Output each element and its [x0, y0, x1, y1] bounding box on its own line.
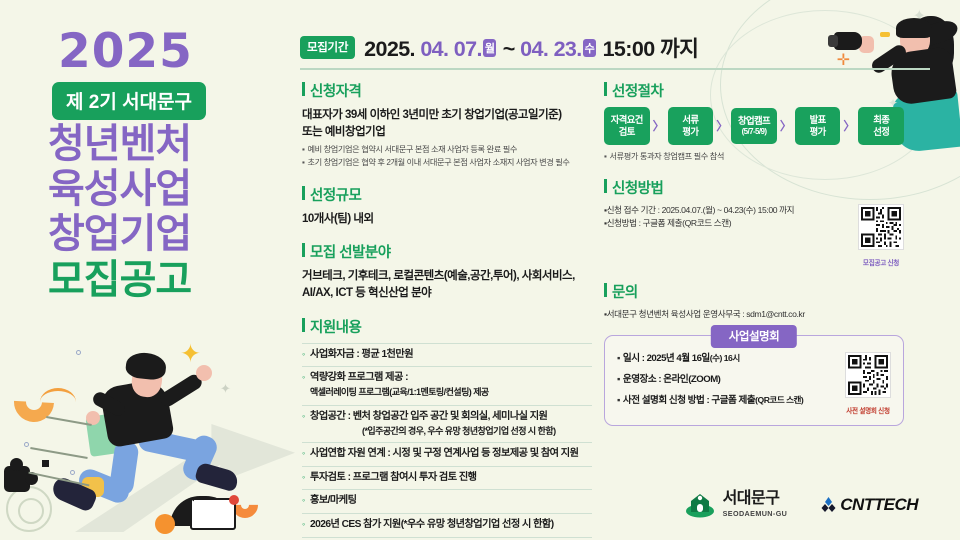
- qr-code-apply[interactable]: [858, 204, 904, 250]
- support-section: 지원내용 사업화자금 : 평균 1천만원역량강화 프로그램 제공 :액셀러레이팅…: [302, 316, 592, 538]
- process-title: 선정절차: [604, 80, 904, 101]
- session-line-text: 사전 설명회 신청 방법 : 구글폼 제출: [623, 395, 755, 406]
- apply-title: 신청방법: [604, 177, 904, 198]
- period-end-day: 수: [583, 39, 597, 57]
- process-step-detail: (5/7-5/9): [734, 127, 774, 137]
- qr-code-session[interactable]: [845, 352, 891, 398]
- session-line: ▪운영장소 : 온라인(ZOOM): [617, 373, 845, 387]
- support-item-text: 사업화자금 : 평균 1천만원: [310, 349, 413, 360]
- seodaemun-logo-text: 서대문구 SEODAEMUN-GU: [723, 491, 788, 518]
- inquiry-section: 문의 ▪서대문구 청년벤처 육성사업 운영사무국 : sdm1@cntt.co.…: [604, 281, 904, 322]
- seodaemun-name-en: SEODAEMUN-GU: [723, 509, 788, 518]
- left-content-column: 신청자격 대표자가 39세 이하인 3년미만 초기 창업기업(공고일기준) 또는…: [302, 80, 592, 540]
- photographer-accent: [880, 32, 890, 37]
- poster-badge: 제 2기 서대문구: [52, 82, 206, 120]
- apply-line-2: ▪신청방법 : 구글폼 제출(QR코드 스캔): [604, 217, 858, 231]
- support-item: 사업연합 자원 연계 : 시정 및 구정 연계사업 등 정보제공 및 참여 지원: [302, 443, 592, 467]
- process-section: 선정절차 자격요건검토〉서류평가〉창업캠프(5/7-5/9)〉발표평가〉최종선정…: [604, 80, 904, 163]
- support-item: 역량강화 프로그램 제공 :액셀러레이팅 프로그램(교육/1:1멘토링/컨설팅)…: [302, 367, 592, 406]
- runner-hair: [125, 351, 167, 381]
- eligibility-note-1: ▪예비 창업기업은 협약시 서대문구 본점 소재 사업자 등록 완료 필수: [302, 143, 592, 156]
- flow-arrow-icon: 〉: [780, 117, 792, 134]
- support-item-text: 역량강화 프로그램 제공 :: [310, 372, 408, 383]
- process-note: ▪서류평가 통과자 창업캠프 필수 참석: [604, 150, 904, 163]
- support-item: 사업화자금 : 평균 1천만원: [302, 344, 592, 368]
- process-step-line1: 창업캠프: [734, 115, 774, 127]
- period-start-day: 월: [483, 39, 497, 57]
- flow-arrow-icon: 〉: [843, 117, 855, 134]
- session-line-text: 운영장소 : 온라인(ZOOM): [623, 374, 720, 385]
- process-step-line2: 선정: [861, 126, 901, 138]
- seodaemun-mark-icon: [685, 492, 715, 518]
- period-start-date: 04. 07.: [420, 37, 482, 61]
- info-session-box: 사업설명회 ▪일시 : 2025년 4월 16일(수) 16시▪운영장소 : 온…: [604, 335, 904, 426]
- scale-section: 선정규모 10개사(팀) 내외: [302, 184, 592, 228]
- process-step: 서류평가: [668, 107, 714, 145]
- support-item: 2026년 CES 참가 지원(*우수 유망 청년창업기업 선정 시 한함): [302, 514, 592, 538]
- process-step: 창업캠프(5/7-5/9): [731, 108, 777, 144]
- session-qr-caption: 사전 설명회 신청: [845, 405, 891, 415]
- inquiry-line: ▪서대문구 청년벤처 육성사업 운영사무국 : sdm1@cntt.co.kr: [604, 308, 904, 322]
- process-flow: 자격요건검토〉서류평가〉창업캠프(5/7-5/9)〉발표평가〉최종선정: [604, 107, 904, 145]
- process-step-line1: 서류: [671, 114, 711, 126]
- process-step-line2: 평가: [798, 126, 838, 138]
- period-tilde: ~: [497, 37, 520, 61]
- info-session-tab: 사업설명회: [711, 325, 797, 348]
- header-divider: [300, 68, 930, 70]
- process-step: 자격요건검토: [604, 107, 650, 145]
- eligibility-note-2: ▪초기 창업기업은 협약 후 2개월 이내 서대문구 본점 사업자 소재지 사업…: [302, 156, 592, 169]
- support-item: 홍보/마케팅: [302, 490, 592, 514]
- period-text: 2025. 04. 07.월 ~ 04. 23.수 15:00 까지: [364, 32, 698, 63]
- envelope-icon: [190, 498, 236, 530]
- orange-dot-icon: [155, 514, 175, 534]
- poster-title-line-3: 창업기업: [48, 212, 191, 257]
- apply-lines: ▪신청 접수 기간 : 2025.04.07.(월) ~ 04.23(수) 15…: [604, 204, 858, 232]
- session-line-sub: (수) 16시: [710, 353, 740, 363]
- process-step-line1: 최종: [861, 114, 901, 126]
- process-step-line2: 검토: [607, 126, 647, 138]
- apply-section: 신청방법 ▪신청 접수 기간 : 2025.04.07.(월) ~ 04.23(…: [604, 177, 904, 267]
- scale-main: 10개사(팀) 내외: [302, 211, 592, 228]
- puzzle-piece-icon: [4, 466, 30, 492]
- flow-arrow-icon: 〉: [653, 117, 665, 134]
- star-yellow-icon: ✦: [180, 342, 201, 367]
- process-step: 최종선정: [858, 107, 904, 145]
- cnttech-name: CNTTECH: [840, 495, 918, 515]
- session-qr-block[interactable]: 사전 설명회 신청: [845, 352, 891, 415]
- bullet-icon: ▪: [617, 374, 620, 385]
- plus-orange-icon: ✛: [837, 50, 850, 70]
- process-step: 발표평가: [795, 107, 841, 145]
- tiny-dot-2: [24, 442, 29, 447]
- photographer-hair-top: [896, 18, 932, 38]
- tiny-dot-1: [76, 350, 81, 355]
- inquiry-title: 문의: [604, 281, 904, 302]
- bullet-icon: ▪: [617, 395, 620, 406]
- support-item-text: 홍보/마케팅: [310, 495, 356, 506]
- right-content-column: 선정절차 자격요건검토〉서류평가〉창업캠프(5/7-5/9)〉발표평가〉최종선정…: [604, 80, 904, 426]
- fields-section: 모집 선발분야 거브테크, 기후테크, 로컬콘텐츠(예술,공간,투어), 사회서…: [302, 241, 592, 301]
- support-title: 지원내용: [302, 316, 592, 337]
- poster-title-block: 청년벤처 육성사업 창업기업 모집공고: [48, 122, 191, 303]
- support-item-text: 투자검토 : 프로그램 참여시 투자 검토 진행: [310, 472, 477, 483]
- poster-hero: 2025 제 2기 서대문구 청년벤처 육성사업 창업기업 모집공고 ✦ ✦: [0, 0, 292, 540]
- eligibility-main: 대표자가 39세 이하인 3년미만 초기 창업기업(공고일기준) 또는 예비창업…: [302, 107, 592, 140]
- support-list: 사업화자금 : 평균 1천만원역량강화 프로그램 제공 :액셀러레이팅 프로그램…: [302, 343, 592, 538]
- session-line-sub: (QR코드 스캔): [755, 395, 803, 405]
- bullet-icon: ▪: [617, 353, 620, 364]
- process-step-line1: 자격요건: [607, 114, 647, 126]
- cnttech-diamond-icon: [821, 497, 836, 512]
- fields-title: 모집 선발분야: [302, 241, 592, 262]
- poster-year: 2025: [58, 24, 193, 79]
- support-item-text: 창업공간 : 벤처 창업공간 입주 공간 및 회의실, 세미나실 지원: [310, 411, 547, 422]
- poster-title-line-1: 청년벤처: [48, 122, 191, 167]
- info-session-row: ▪일시 : 2025년 4월 16일(수) 16시▪운영장소 : 온라인(ZOO…: [617, 352, 891, 415]
- square-dot-icon: [42, 460, 49, 467]
- recruitment-period-bar: 모집기간 2025. 04. 07.월 ~ 04. 23.수 15:00 까지: [300, 32, 698, 63]
- apply-line-1: ▪신청 접수 기간 : 2025.04.07.(월) ~ 04.23(수) 15…: [604, 204, 858, 218]
- star-small-icon: ✦: [220, 382, 231, 395]
- seodaemun-name-kr: 서대문구: [723, 491, 788, 507]
- fields-main: 거브테크, 기후테크, 로컬콘텐츠(예술,공간,투어), 사회서비스, AI/A…: [302, 268, 592, 301]
- apply-qr-block[interactable]: 모집공고 신청: [858, 204, 904, 267]
- footer-logos: 서대문구 SEODAEMUN-GU CNTTECH: [685, 491, 918, 518]
- flow-arrow-icon: 〉: [716, 117, 728, 134]
- period-prefix: 2025.: [364, 37, 420, 61]
- process-step-line2: 평가: [671, 126, 711, 138]
- info-session-lines: ▪일시 : 2025년 4월 16일(수) 16시▪운영장소 : 온라인(ZOO…: [617, 352, 845, 415]
- support-item: 창업공간 : 벤처 창업공간 입주 공간 및 회의실, 세미나실 지원(*입주공…: [302, 406, 592, 443]
- support-item-text: 2026년 CES 참가 지원(*우수 유망 청년창업기업 선정 시 한함): [310, 519, 554, 530]
- support-item: 투자검토 : 프로그램 참여시 투자 검토 진행: [302, 467, 592, 491]
- support-item-sub: 액셀러레이팅 프로그램(교육/1:1멘토링/컨설팅) 제공: [310, 387, 489, 397]
- scale-title: 선정규모: [302, 184, 592, 205]
- poster-title-line-4: 모집공고: [48, 258, 191, 303]
- cnttech-logo: CNTTECH: [821, 495, 918, 515]
- support-item-indent: (*입주공간의 경우, 우수 유망 청년창업기업 선정 시 한함): [310, 425, 590, 438]
- session-line: ▪일시 : 2025년 4월 16일(수) 16시: [617, 352, 845, 366]
- seodaemun-logo: 서대문구 SEODAEMUN-GU: [685, 491, 788, 518]
- apply-row: ▪신청 접수 기간 : 2025.04.07.(월) ~ 04.23(수) 15…: [604, 204, 904, 267]
- period-end-date: 04. 23.: [520, 37, 582, 61]
- apply-qr-caption: 모집공고 신청: [858, 257, 904, 267]
- support-item-text: 사업연합 자원 연계 : 시정 및 구정 연계사업 등 정보제공 및 참여 지원: [310, 448, 578, 459]
- eligibility-title: 신청자격: [302, 80, 592, 101]
- period-chip: 모집기간: [300, 36, 355, 59]
- period-suffix: 15:00 까지: [597, 37, 698, 61]
- eligibility-section: 신청자격 대표자가 39세 이하인 3년미만 초기 창업기업(공고일기준) 또는…: [302, 80, 592, 170]
- process-step-line1: 발표: [798, 114, 838, 126]
- session-line-text: 일시 : 2025년 4월 16일: [623, 353, 710, 364]
- tiny-dot-3: [70, 470, 75, 475]
- session-line: ▪사전 설명회 신청 방법 : 구글폼 제출(QR코드 스캔): [617, 394, 845, 408]
- camera-icon: [834, 32, 862, 50]
- poster-title-line-2: 육성사업: [48, 167, 191, 212]
